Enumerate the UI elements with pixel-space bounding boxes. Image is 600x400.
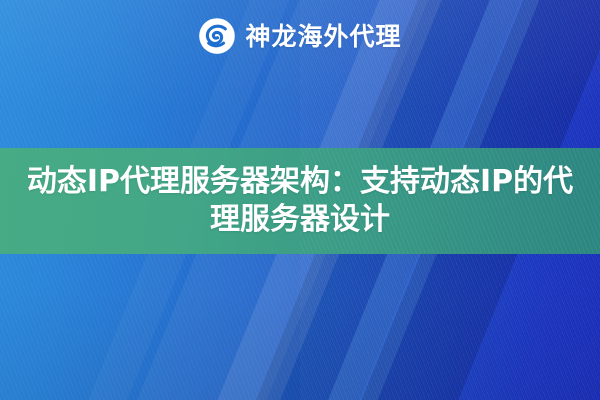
- page-title: 动态IP代理服务器架构：支持动态IP的代理服务器设计: [15, 163, 585, 239]
- swirl-circle-icon: [198, 17, 236, 55]
- promo-banner: 神龙海外代理 动态IP代理服务器架构：支持动态IP的代理服务器设计: [0, 0, 600, 400]
- title-band: 动态IP代理服务器架构：支持动态IP的代理服务器设计: [0, 148, 600, 254]
- brand-logo: 神龙海外代理: [0, 12, 600, 60]
- brand-name: 神龙海外代理: [245, 24, 401, 49]
